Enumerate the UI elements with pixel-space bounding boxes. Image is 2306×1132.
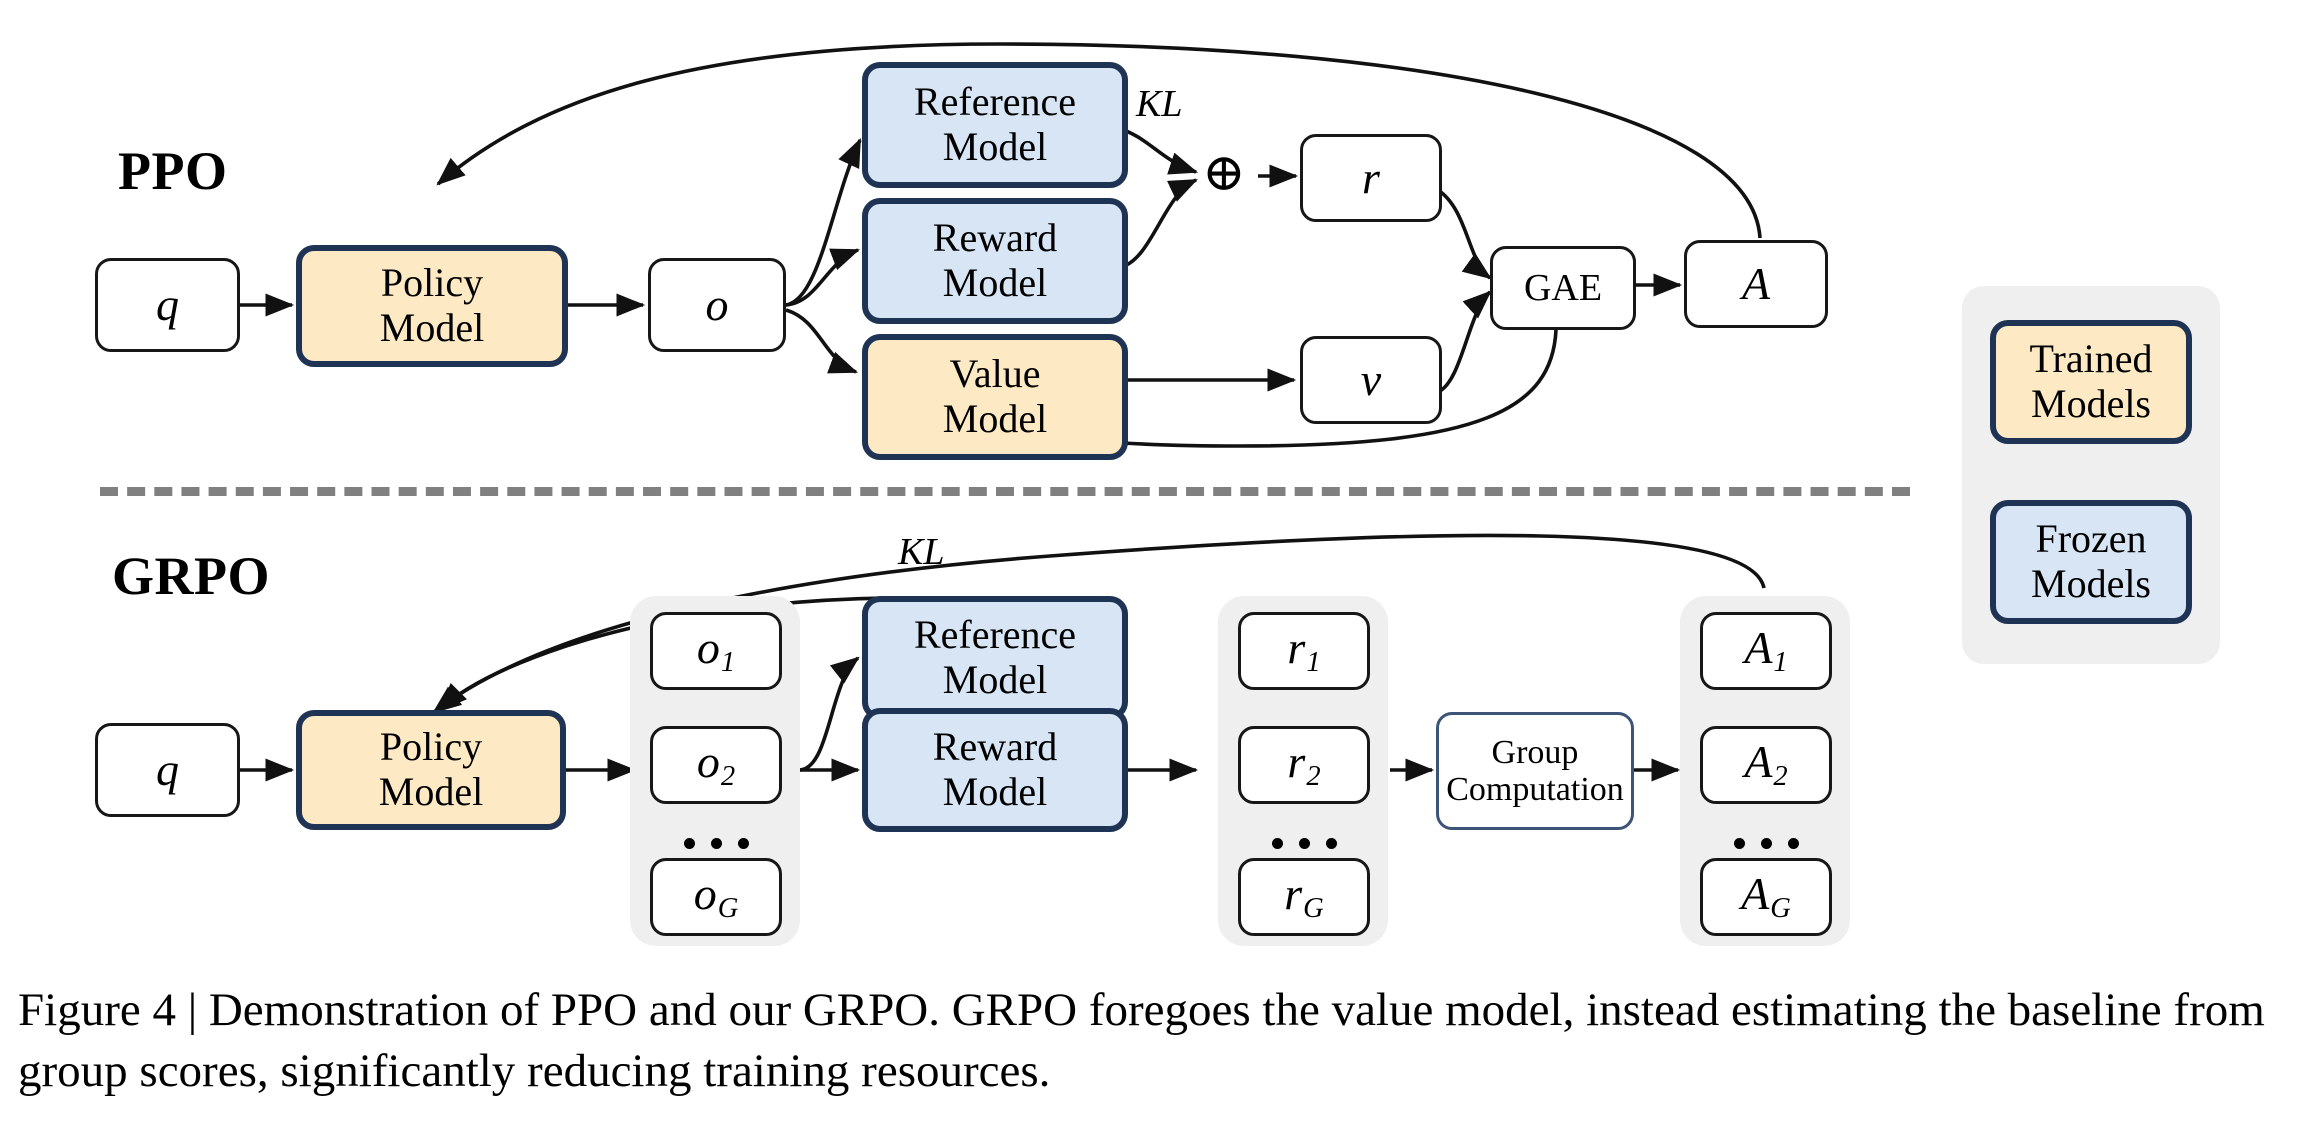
grpo-advantage-item-1-label: A1 — [1744, 624, 1787, 678]
grpo-advantage-item-2-label: A2 — [1744, 738, 1787, 792]
grpo-output-item-g: oG — [650, 858, 782, 936]
ppo-node-r-label: r — [1362, 154, 1380, 203]
legend-item-trained-models-label: Trained Models — [2030, 337, 2153, 427]
grpo-outputs-ellipsis — [650, 826, 782, 860]
ppo-node-v: v — [1300, 336, 1442, 424]
edge-ppo-reference-to-sum — [1118, 128, 1196, 172]
section-divider — [100, 487, 1910, 496]
grpo-reward-item-1-label: r1 — [1287, 624, 1320, 678]
ppo-kl-label: KL — [1136, 82, 1182, 126]
ppo-node-a: A — [1684, 240, 1828, 328]
grpo-node-q: q — [95, 723, 240, 817]
ppo-node-reward-model: Reward Model — [862, 198, 1128, 324]
ppo-node-policy-model-label: Policy Model — [380, 261, 484, 351]
ppo-node-gae: GAE — [1490, 246, 1636, 330]
edge-grpo-outputs-to-reference — [800, 658, 858, 770]
edge-ppo-reward-to-sum — [1118, 180, 1196, 268]
edge-ppo-o-to-reference — [786, 140, 860, 305]
sum-operator-icon: ⊕ — [1202, 148, 1246, 200]
edge-ppo-o-to-value — [786, 310, 856, 372]
ppo-node-q-label: q — [156, 281, 179, 330]
ppo-node-reference-model: Reference Model — [862, 62, 1128, 188]
grpo-advantage-item-g-label: AG — [1741, 870, 1791, 924]
grpo-advantage-item-g: AG — [1700, 858, 1832, 936]
ppo-node-v-label: v — [1361, 356, 1381, 405]
grpo-output-item-g-label: oG — [694, 870, 739, 924]
ppo-node-o-label: o — [706, 281, 729, 330]
edge-ppo-r-to-gae — [1438, 190, 1490, 278]
ppo-node-reward-model-label: Reward Model — [933, 216, 1057, 306]
grpo-reward-item-g: rG — [1238, 858, 1370, 936]
grpo-output-item-2: o2 — [650, 726, 782, 804]
ppo-node-o: o — [648, 258, 786, 352]
grpo-reward-item-2: r2 — [1238, 726, 1370, 804]
ppo-node-a-label: A — [1742, 260, 1770, 309]
grpo-node-policy-model-label: Policy Model — [379, 725, 483, 815]
ppo-node-q: q — [95, 258, 240, 352]
ppo-section-title: PPO — [118, 140, 227, 202]
grpo-reward-item-g-label: rG — [1284, 870, 1324, 924]
ppo-node-gae-label: GAE — [1524, 268, 1602, 308]
grpo-node-reference-model-label: Reference Model — [914, 613, 1076, 703]
grpo-node-policy-model: Policy Model — [296, 710, 566, 830]
grpo-reward-item-2-label: r2 — [1287, 738, 1320, 792]
grpo-reward-item-1: r1 — [1238, 612, 1370, 690]
grpo-advantage-item-2: A2 — [1700, 726, 1832, 804]
grpo-rewards-ellipsis — [1238, 826, 1370, 860]
grpo-output-item-1: o1 — [650, 612, 782, 690]
legend-item-frozen-models-label: Frozen Models — [2031, 517, 2151, 607]
grpo-node-reward-model-label: Reward Model — [933, 725, 1057, 815]
grpo-section-title: GRPO — [112, 545, 270, 607]
grpo-advantage-item-1: A1 — [1700, 612, 1832, 690]
grpo-node-q-label: q — [156, 746, 179, 795]
grpo-node-reference-model: Reference Model — [862, 596, 1128, 720]
figure-page: PPO q Policy Model o Reference Model Rew… — [0, 0, 2306, 1132]
ppo-node-value-model-label: Value Model — [943, 352, 1047, 442]
ppo-node-r: r — [1300, 134, 1442, 222]
grpo-output-item-1-label: o1 — [697, 624, 735, 678]
legend-item-trained-models: Trained Models — [1990, 320, 2192, 444]
grpo-node-group-computation-label: Group Computation — [1446, 734, 1624, 809]
edge-ppo-o-to-reward — [786, 250, 858, 305]
grpo-output-item-2-label: o2 — [697, 738, 735, 792]
figure-caption: Figure 4 | Demonstration of PPO and our … — [18, 980, 2288, 1102]
grpo-node-group-computation: Group Computation — [1436, 712, 1634, 830]
figure-canvas: PPO q Policy Model o Reference Model Rew… — [0, 0, 2306, 960]
ppo-node-policy-model: Policy Model — [296, 245, 568, 367]
grpo-kl-label: KL — [898, 530, 944, 574]
ppo-node-reference-model-label: Reference Model — [914, 80, 1076, 170]
grpo-advantages-ellipsis — [1700, 826, 1832, 860]
ppo-node-value-model: Value Model — [862, 334, 1128, 460]
grpo-node-reward-model: Reward Model — [862, 708, 1128, 832]
legend-item-frozen-models: Frozen Models — [1990, 500, 2192, 624]
edge-ppo-v-to-gae — [1438, 292, 1490, 392]
